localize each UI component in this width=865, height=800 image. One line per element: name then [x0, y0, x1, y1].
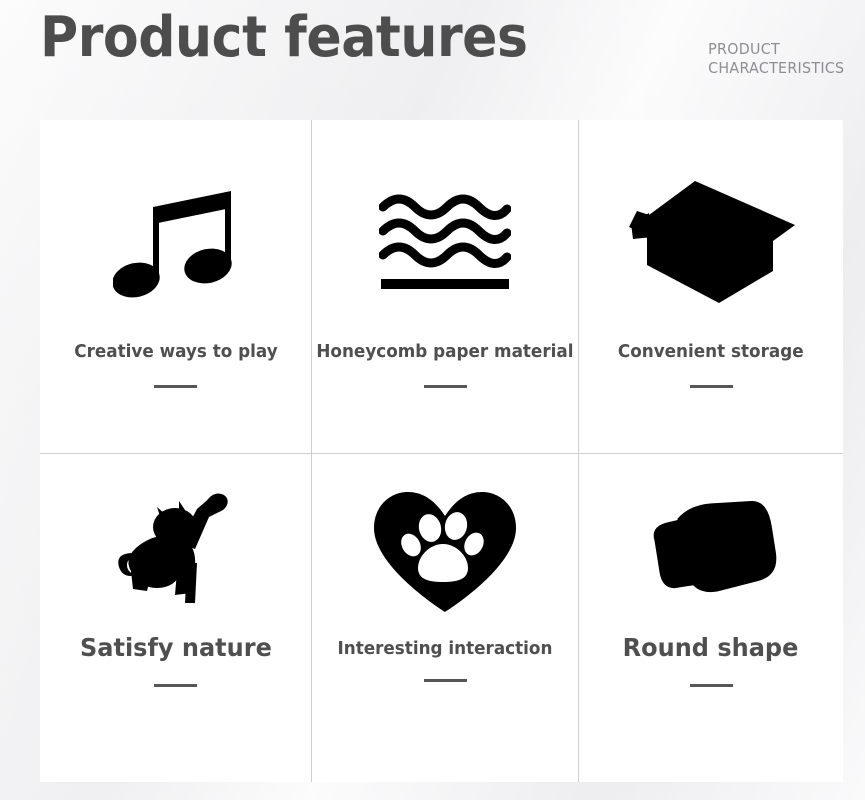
round-roll-icon [579, 454, 843, 627]
label-rule [424, 385, 467, 388]
feature-label: Convenient storage [618, 342, 804, 362]
header: Product features PRODUCT CHARACTERISTICS [0, 0, 865, 118]
feature-cell-convenient-storage[interactable]: Convenient storage [578, 120, 843, 453]
label-rule [424, 679, 467, 682]
feature-cell-interesting-interaction[interactable]: Interesting interaction [311, 453, 578, 782]
feature-label: Satisfy nature [80, 633, 272, 662]
cat-icon [40, 454, 311, 627]
label-rule [154, 385, 197, 388]
page-title: Product features [40, 6, 528, 70]
feature-cell-round-shape[interactable]: Round shape [578, 453, 843, 782]
feature-grid: Creative ways to play Honeycomb paper ma… [40, 120, 843, 782]
storage-box-icon [579, 120, 843, 338]
feature-cell-satisfy-nature[interactable]: Satisfy nature [40, 453, 311, 782]
feature-cell-honeycomb-paper-material[interactable]: Honeycomb paper material [311, 120, 578, 453]
header-kicker: PRODUCT CHARACTERISTICS [708, 40, 844, 78]
kicker-line-1: PRODUCT [708, 40, 844, 59]
kicker-line-2: CHARACTERISTICS [708, 59, 844, 78]
label-rule [690, 684, 733, 687]
music-note-icon [40, 120, 311, 338]
label-rule [690, 385, 733, 388]
feature-label: Interesting interaction [338, 639, 553, 659]
feature-label: Honeycomb paper material [316, 342, 573, 362]
label-rule [154, 684, 197, 687]
heart-paw-icon [312, 454, 578, 627]
feature-label: Round shape [623, 633, 799, 662]
corrugated-wave-icon [312, 120, 578, 338]
feature-cell-creative-ways-to-play[interactable]: Creative ways to play [40, 120, 311, 453]
feature-label: Creative ways to play [74, 342, 277, 362]
